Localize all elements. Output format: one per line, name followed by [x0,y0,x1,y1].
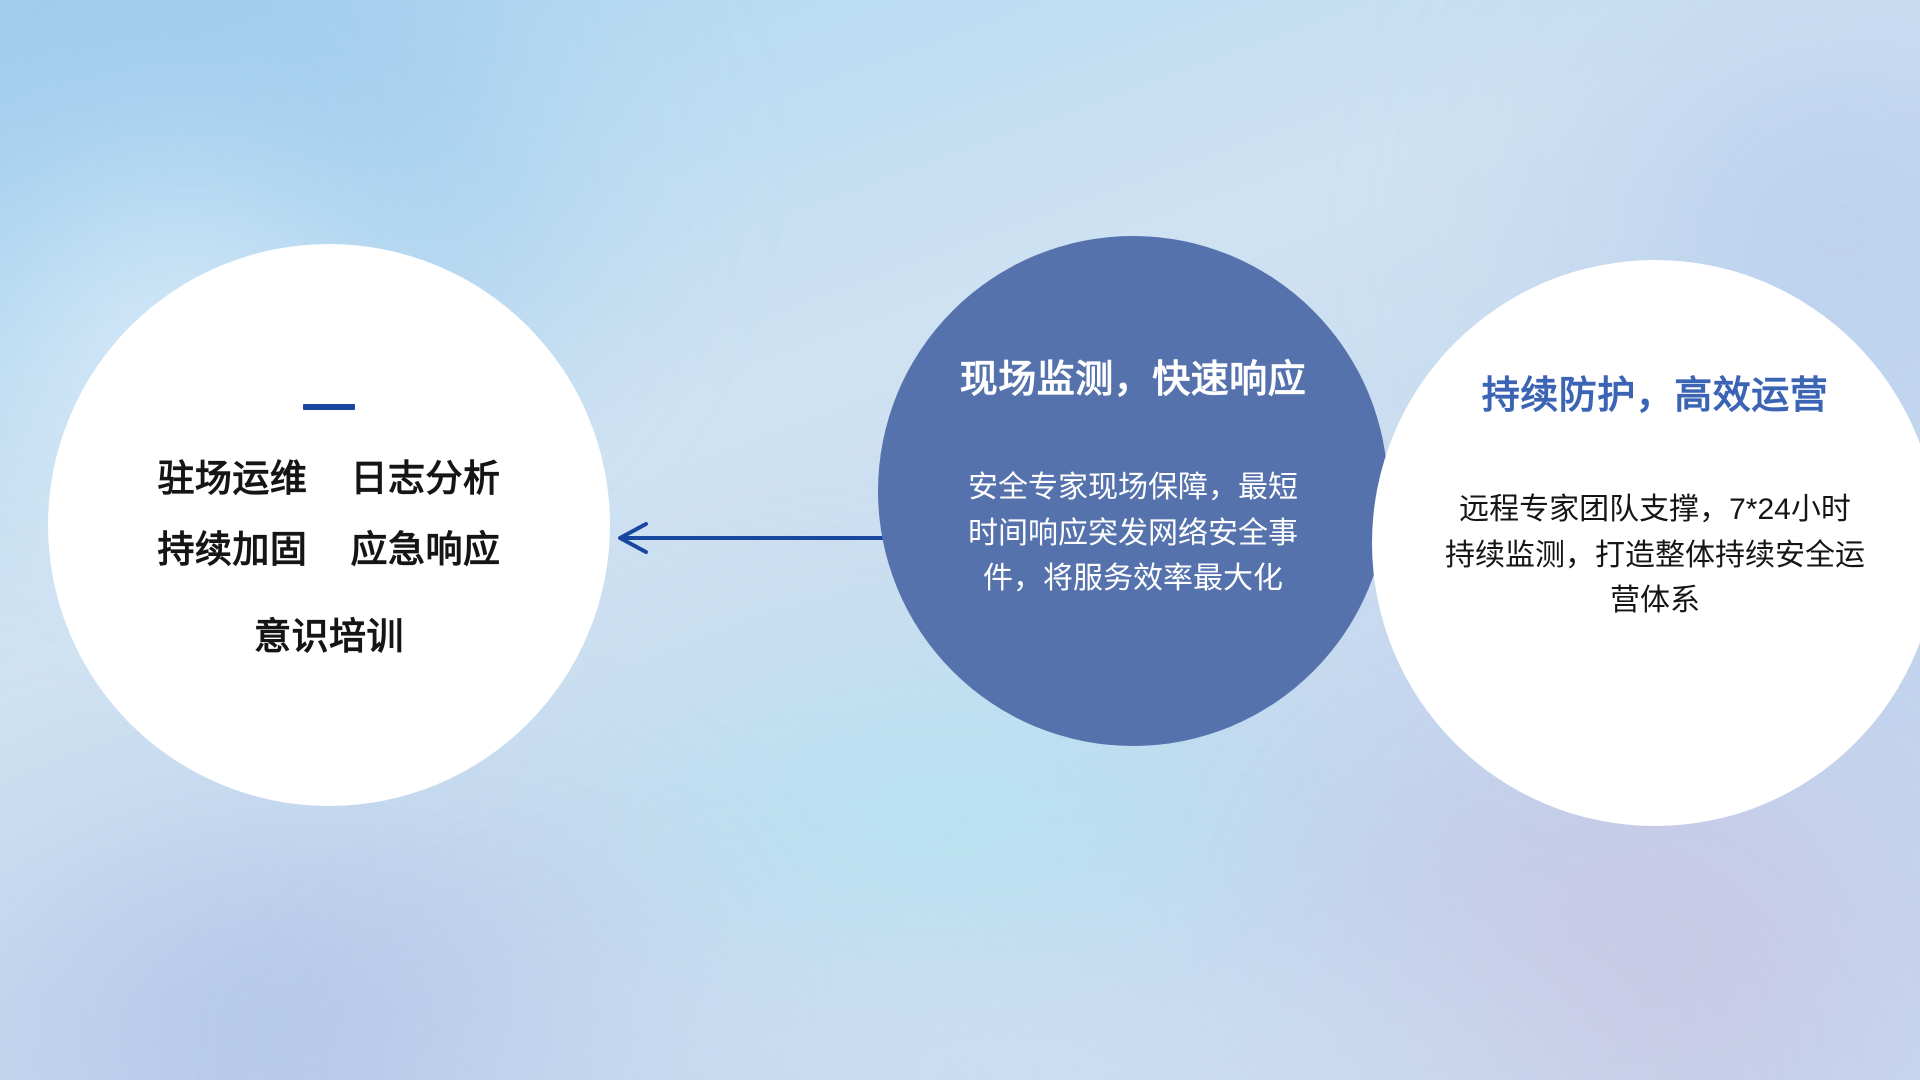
capability-circle-left[interactable]: 驻场运维 日志分析 持续加固 应急响应 意识培训 [48,244,610,806]
service-circle-continuous-title: 持续防护，高效运营 [1482,364,1829,419]
capability-circle-left-content: 驻场运维 日志分析 持续加固 应急响应 意识培训 [48,244,610,806]
service-circle-onsite-title: 现场监测，快速响应 [960,348,1307,403]
service-circle-onsite-body: 安全专家现场保障，最短时间响应突发网络安全事件，将服务效率最大化 [968,465,1298,602]
capability-line-3: 意识培训 [254,618,404,655]
capability-line-1: 驻场运维 日志分析 [157,460,500,497]
service-circle-continuous-body: 远程专家团队支撑，7*24小时持续监测，打造整体持续安全运营体系 [1445,487,1865,624]
flow-arrow-icon [600,520,890,556]
service-circle-onsite-content: 现场监测，快速响应 安全专家现场保障，最短时间响应突发网络安全事件，将服务效率最… [878,236,1388,746]
divider-dash-icon [303,404,355,410]
slide-canvas: 驻场运维 日志分析 持续加固 应急响应 意识培训 现场监测，快速响应 安全专家现… [0,0,1920,1080]
capability-line-2: 持续加固 应急响应 [157,531,500,568]
service-circle-onsite[interactable]: 现场监测，快速响应 安全专家现场保障，最短时间响应突发网络安全事件，将服务效率最… [878,236,1388,746]
service-circle-continuous-content: 持续防护，高效运营 远程专家团队支撑，7*24小时持续监测，打造整体持续安全运营… [1372,260,1920,826]
service-circle-continuous[interactable]: 持续防护，高效运营 远程专家团队支撑，7*24小时持续监测，打造整体持续安全运营… [1372,260,1920,826]
